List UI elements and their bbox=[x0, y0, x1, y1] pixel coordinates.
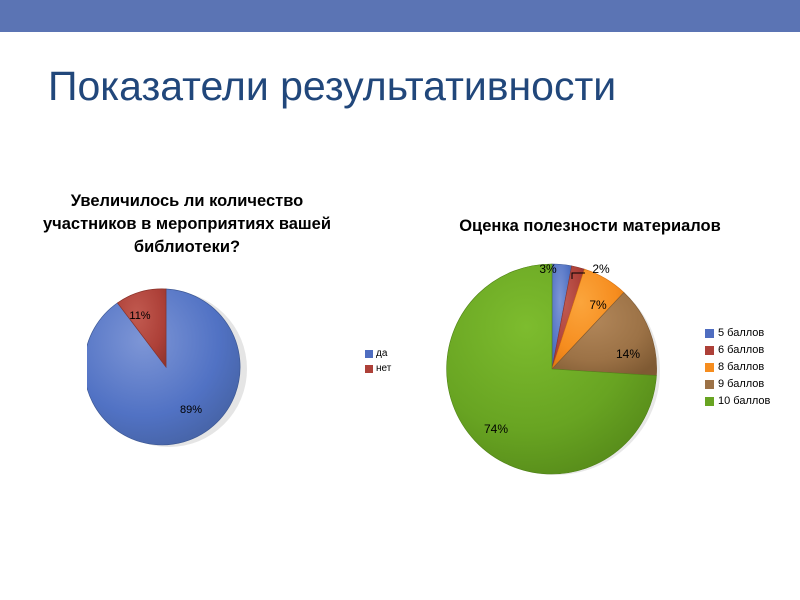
legend-label-10-ballov: 10 баллов bbox=[718, 395, 770, 407]
legend-swatch-9-ballov bbox=[705, 380, 714, 389]
legend-item-8-ballov[interactable]: 8 баллов bbox=[705, 361, 800, 373]
legend-item-10-ballov[interactable]: 10 баллов bbox=[705, 395, 800, 407]
pie-chart-participants-growth: 89% 11% bbox=[87, 288, 247, 448]
pie-data-label-9-ballov: 14% bbox=[616, 347, 640, 361]
legend-item-9-ballov[interactable]: 9 баллов bbox=[705, 378, 800, 390]
page-title: Показатели результативности bbox=[48, 62, 758, 110]
legend-swatch-10-ballov bbox=[705, 397, 714, 406]
legend-item-6-ballov[interactable]: 6 баллов bbox=[705, 344, 800, 356]
legend-label-8-ballov: 8 баллов bbox=[718, 361, 764, 373]
pie-data-label-da: 89% bbox=[180, 404, 202, 416]
slide-canvas: Показатели результативности Увеличилось … bbox=[0, 0, 800, 600]
legend-label-da: да bbox=[376, 348, 387, 360]
legend-swatch-da bbox=[365, 350, 373, 358]
pie-data-label-10-ballov: 74% bbox=[484, 422, 508, 436]
legend-materials-usefulness: 5 баллов 6 баллов 8 баллов 9 баллов 10 б… bbox=[705, 327, 800, 412]
legend-swatch-8-ballov bbox=[705, 363, 714, 372]
chart-title-materials-usefulness: Оценка полезности материалов bbox=[410, 215, 770, 237]
chart-participants-growth: Увеличилось ли количество участников в м… bbox=[20, 190, 440, 460]
chart-materials-usefulness: Оценка полезности материалов bbox=[400, 215, 800, 485]
top-decorative-band bbox=[0, 0, 800, 32]
pie-data-label-6-ballov: 2% bbox=[592, 263, 610, 276]
pie-data-label-8-ballov: 7% bbox=[589, 298, 607, 312]
legend-label-9-ballov: 9 баллов bbox=[718, 378, 764, 390]
legend-label-6-ballov: 6 баллов bbox=[718, 344, 764, 356]
legend-label-5-ballov: 5 баллов bbox=[718, 327, 764, 339]
pie-data-label-5-ballov: 3% bbox=[539, 263, 557, 276]
legend-swatch-6-ballov bbox=[705, 346, 714, 355]
pie-data-label-net: 11% bbox=[129, 310, 150, 322]
legend-label-net: нет bbox=[376, 363, 391, 375]
legend-item-5-ballov[interactable]: 5 баллов bbox=[705, 327, 800, 339]
pie-chart-materials-usefulness: 3% 2% 7% 14% 74% bbox=[443, 263, 661, 475]
legend-swatch-net bbox=[365, 365, 373, 373]
chart-title-participants-growth: Увеличилось ли количество участников в м… bbox=[42, 190, 332, 259]
legend-swatch-5-ballov bbox=[705, 329, 714, 338]
